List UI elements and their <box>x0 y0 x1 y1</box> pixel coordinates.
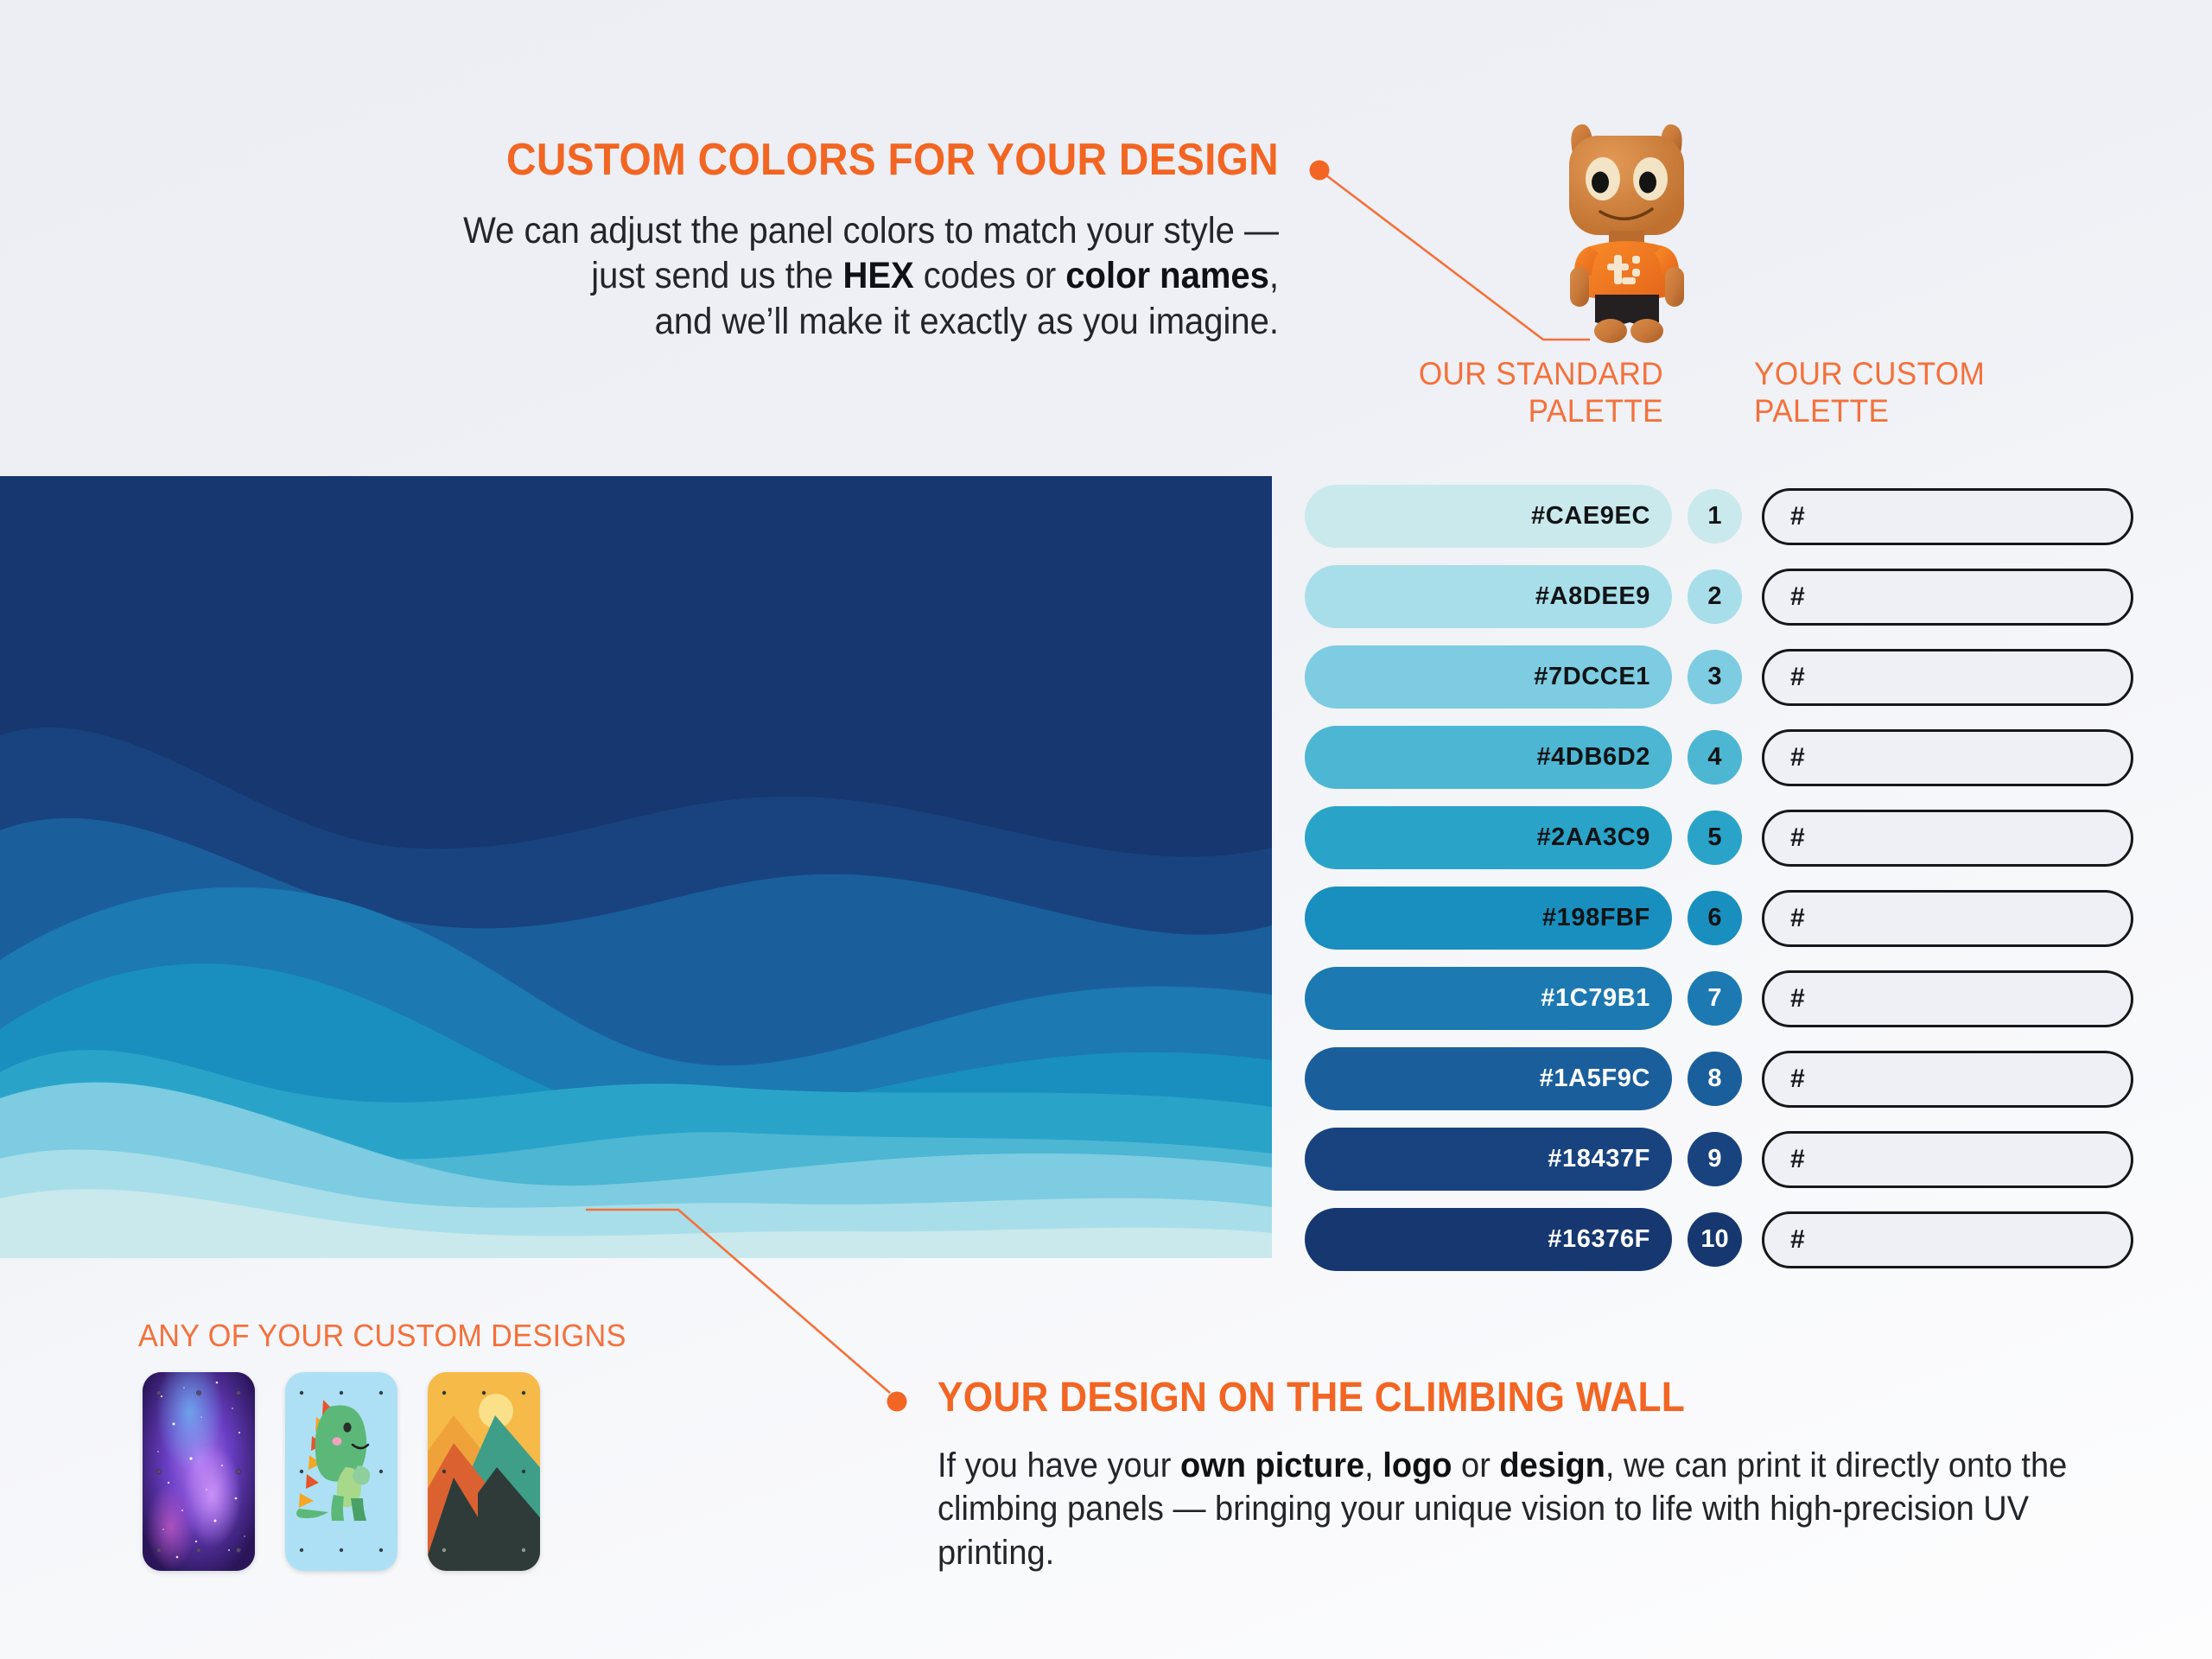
cta-block: YOUR DESIGN ON THE CLIMBING WALL If you … <box>938 1374 2173 1574</box>
headline-line-2-a: just send us the <box>591 255 842 296</box>
dinosaur-design-panel[interactable] <box>285 1372 397 1571</box>
cta-body-3: or <box>1452 1446 1500 1484</box>
palette-row: #7DCCE13# <box>1305 637 2186 717</box>
headline-line-2: just send us the HEX codes or color name… <box>210 253 1279 298</box>
custom-designs-heading: ANY OF YOUR CUSTOM DESIGNS <box>138 1318 626 1354</box>
connector-line-top <box>1296 151 1590 359</box>
headline-description: We can adjust the panel colors to match … <box>210 208 1279 344</box>
color-hex-label: #16376F <box>1548 1225 1650 1254</box>
color-swatch-bar[interactable]: #A8DEE9 <box>1305 565 1672 628</box>
custom-color-input[interactable]: # <box>1762 729 2133 786</box>
headline-line-2-c: codes or <box>914 255 1066 296</box>
cta-body-1: If you have your <box>938 1446 1180 1484</box>
color-hex-label: #CAE9EC <box>1531 502 1650 531</box>
headline-line-3-text: and we’ll make it exactly as you imagine… <box>655 301 1279 342</box>
color-swatch-bar[interactable]: #2AA3C9 <box>1305 806 1672 869</box>
standard-palette-heading-line-2: PALETTE <box>1265 393 1663 430</box>
color-swatch-bar[interactable]: #198FBF <box>1305 887 1672 950</box>
color-swatch-bar[interactable]: #4DB6D2 <box>1305 726 1672 789</box>
color-index-badge: 2 <box>1688 569 1742 624</box>
color-hex-label: #7DCCE1 <box>1534 663 1650 691</box>
palette-row: #A8DEE92# <box>1305 556 2186 637</box>
own-picture-keyword: own picture <box>1180 1446 1364 1484</box>
custom-palette-heading-line-2: PALETTE <box>1754 393 2136 430</box>
custom-color-input[interactable]: # <box>1762 890 2133 947</box>
custom-palette-heading-line-1: YOUR CUSTOM <box>1754 356 2136 393</box>
palette-row: #16376F10# <box>1305 1199 2186 1280</box>
color-index-badge: 7 <box>1688 971 1742 1026</box>
logo-keyword: logo <box>1382 1446 1452 1484</box>
palette-table: #CAE9EC1##A8DEE92##7DCCE13##4DB6D24##2AA… <box>1305 476 2186 1280</box>
custom-color-input[interactable]: # <box>1762 1211 2133 1268</box>
palette-row: #1C79B17# <box>1305 958 2186 1039</box>
design-keyword: design <box>1499 1446 1605 1484</box>
cta-description: If you have your own picture, logo or de… <box>938 1444 2112 1574</box>
color-index-badge: 10 <box>1688 1212 1742 1267</box>
color-hex-label: #4DB6D2 <box>1536 743 1650 772</box>
color-hex-label: #198FBF <box>1542 904 1650 932</box>
color-index-badge: 4 <box>1688 730 1742 785</box>
color-index-badge: 1 <box>1688 489 1742 543</box>
color-hex-label: #18437F <box>1548 1145 1650 1173</box>
page-title: CUSTOM COLORS FOR YOUR DESIGN <box>221 134 1279 186</box>
custom-color-input[interactable]: # <box>1762 1051 2133 1108</box>
palette-row: #2AA3C95# <box>1305 798 2186 878</box>
mountains-design-panel[interactable] <box>428 1372 540 1571</box>
color-index-badge: 3 <box>1688 650 1742 704</box>
hex-keyword: HEX <box>842 255 913 296</box>
galaxy-design-panel[interactable] <box>143 1372 255 1571</box>
palette-row: #1A5F9C8# <box>1305 1039 2186 1119</box>
headline-line-2-e: , <box>1269 255 1279 296</box>
standard-palette-heading: OUR STANDARD PALETTE <box>1265 356 1663 429</box>
palette-row: #4DB6D24# <box>1305 717 2186 798</box>
color-hex-label: #1A5F9C <box>1540 1065 1650 1093</box>
color-swatch-bar[interactable]: #18437F <box>1305 1128 1672 1191</box>
palette-row: #CAE9EC1# <box>1305 476 2186 556</box>
palette-row: #198FBF6# <box>1305 878 2186 958</box>
design-panels-row <box>143 1372 540 1571</box>
color-swatch-bar[interactable]: #1A5F9C <box>1305 1047 1672 1110</box>
color-names-keyword: color names <box>1065 255 1269 296</box>
bear-mascot <box>1547 117 1707 346</box>
headline-block: CUSTOM COLORS FOR YOUR DESIGN We can adj… <box>130 134 1279 344</box>
headline-line-3: and we’ll make it exactly as you imagine… <box>210 299 1279 344</box>
color-swatch-bar[interactable]: #CAE9EC <box>1305 485 1672 548</box>
color-index-badge: 5 <box>1688 810 1742 865</box>
color-hex-label: #A8DEE9 <box>1535 582 1650 611</box>
color-index-badge: 8 <box>1688 1052 1742 1106</box>
custom-palette-heading: YOUR CUSTOM PALETTE <box>1754 356 2136 429</box>
custom-color-input[interactable]: # <box>1762 970 2133 1027</box>
blue-wave-panel-artwork <box>0 476 1272 1258</box>
color-index-badge: 9 <box>1688 1132 1742 1186</box>
custom-color-input[interactable]: # <box>1762 810 2133 867</box>
headline-line-1: We can adjust the panel colors to match … <box>210 208 1279 253</box>
custom-color-input[interactable]: # <box>1762 488 2133 545</box>
color-swatch-bar[interactable]: #7DCCE1 <box>1305 645 1672 709</box>
custom-color-input[interactable]: # <box>1762 1131 2133 1188</box>
color-swatch-bar[interactable]: #16376F <box>1305 1208 1672 1271</box>
color-hex-label: #1C79B1 <box>1541 984 1650 1013</box>
standard-palette-heading-line-1: OUR STANDARD <box>1265 356 1663 393</box>
custom-color-input[interactable]: # <box>1762 569 2133 626</box>
palette-row: #18437F9# <box>1305 1119 2186 1199</box>
color-index-badge: 6 <box>1688 891 1742 945</box>
bear-mascot-icon <box>1547 117 1707 346</box>
color-swatch-bar[interactable]: #1C79B1 <box>1305 967 1672 1030</box>
headline-line-1-text: We can adjust the panel colors to match … <box>463 210 1279 251</box>
connector-line-bottom <box>553 1192 925 1417</box>
color-hex-label: #2AA3C9 <box>1536 823 1650 852</box>
cta-body-2: , <box>1364 1446 1382 1484</box>
page-root: CUSTOM COLORS FOR YOUR DESIGN We can adj… <box>0 0 2212 1659</box>
cta-title: YOUR DESIGN ON THE CLIMBING WALL <box>938 1374 2075 1421</box>
custom-color-input[interactable]: # <box>1762 649 2133 706</box>
